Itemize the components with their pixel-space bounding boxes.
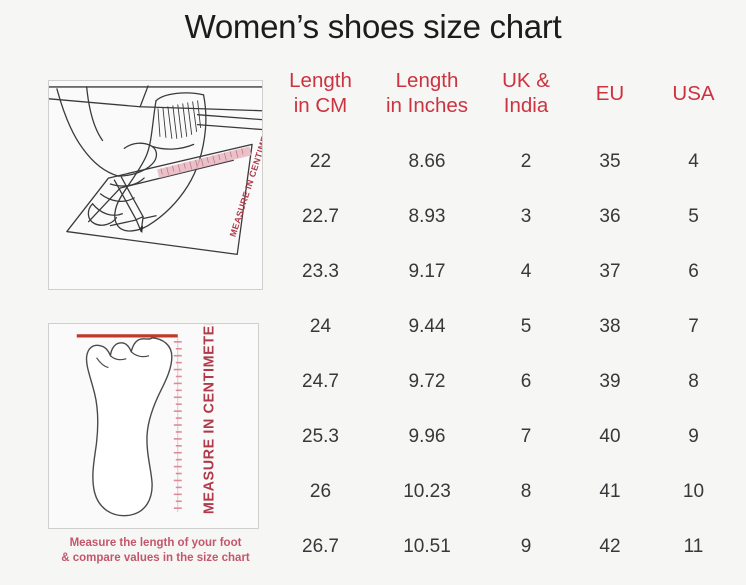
table-cell: 23.3 [268, 244, 373, 299]
table-cell: 25.3 [268, 409, 373, 464]
table-cell: 8.66 [373, 134, 481, 189]
table-cell: 10.23 [373, 464, 481, 519]
foot-tracing-illustration: MEASURE IN CENTIMETERS [48, 80, 263, 290]
foot-tracing-drawing: MEASURE IN CENTIMETERS [49, 81, 262, 289]
table-cell: 8.93 [373, 189, 481, 244]
table-cell: 7 [481, 409, 571, 464]
column-header-length-cm: Length in CM [268, 68, 373, 134]
ruler-ticks [174, 338, 182, 512]
table-header-row: Length in CM Length in Inches UK & India… [268, 68, 738, 134]
table-cell: 11 [649, 519, 738, 574]
table-cell: 6 [649, 244, 738, 299]
column-header-length-inches: Length in Inches [373, 68, 481, 134]
caption-line-2: & compare values in the size chart [48, 551, 263, 566]
size-chart-table: Length in CM Length in Inches UK & India… [268, 68, 738, 574]
table-row: 25.39.967409 [268, 409, 738, 464]
table-cell: 3 [481, 189, 571, 244]
caption-line-1: Measure the length of your foot [48, 536, 263, 551]
table-body: 228.66235422.78.93336523.39.174376249.44… [268, 134, 738, 574]
table-cell: 22.7 [268, 189, 373, 244]
column-header-uk-india: UK & India [481, 68, 571, 134]
table-cell: 2 [481, 134, 571, 189]
table-cell: 35 [571, 134, 649, 189]
table-cell: 22 [268, 134, 373, 189]
measure-instructions: Measure the length of your foot & compar… [48, 536, 263, 566]
ruler-label-text: MEASURE IN CENTIMETERS [201, 324, 217, 514]
table-cell: 6 [481, 354, 571, 409]
table-cell: 38 [571, 299, 649, 354]
table-row: 22.78.933365 [268, 189, 738, 244]
table-cell: 9 [649, 409, 738, 464]
table-row: 2610.2384110 [268, 464, 738, 519]
table-cell: 36 [571, 189, 649, 244]
table-cell: 4 [481, 244, 571, 299]
footprint-path [87, 338, 172, 516]
table-cell: 26 [268, 464, 373, 519]
footprint-outline-illustration: MEASURE IN CENTIMETERS [48, 323, 259, 529]
table-cell: 39 [571, 354, 649, 409]
illustration-column: MEASURE IN CENTIMETERS [48, 80, 263, 529]
table-cell: 26.7 [268, 519, 373, 574]
footprint-drawing: MEASURE IN CENTIMETERS [49, 324, 258, 528]
table-cell: 5 [649, 189, 738, 244]
table-cell: 9.72 [373, 354, 481, 409]
table-cell: 42 [571, 519, 649, 574]
table-cell: 8 [649, 354, 738, 409]
table-cell: 9.44 [373, 299, 481, 354]
table-row: 26.710.5194211 [268, 519, 738, 574]
table-cell: 8 [481, 464, 571, 519]
table-cell: 24 [268, 299, 373, 354]
table-row: 24.79.726398 [268, 354, 738, 409]
column-header-eu: EU [571, 68, 649, 134]
table-cell: 5 [481, 299, 571, 354]
table-cell: 9.17 [373, 244, 481, 299]
table-cell: 7 [649, 299, 738, 354]
table-cell: 9 [481, 519, 571, 574]
table-row: 228.662354 [268, 134, 738, 189]
table-cell: 24.7 [268, 354, 373, 409]
table-cell: 41 [571, 464, 649, 519]
table-cell: 10 [649, 464, 738, 519]
table-cell: 10.51 [373, 519, 481, 574]
column-header-usa: USA [649, 68, 738, 134]
table-cell: 37 [571, 244, 649, 299]
table-cell: 40 [571, 409, 649, 464]
table-cell: 4 [649, 134, 738, 189]
table-row: 23.39.174376 [268, 244, 738, 299]
table-cell: 9.96 [373, 409, 481, 464]
page-title: Women’s shoes size chart [0, 8, 746, 46]
table-row: 249.445387 [268, 299, 738, 354]
